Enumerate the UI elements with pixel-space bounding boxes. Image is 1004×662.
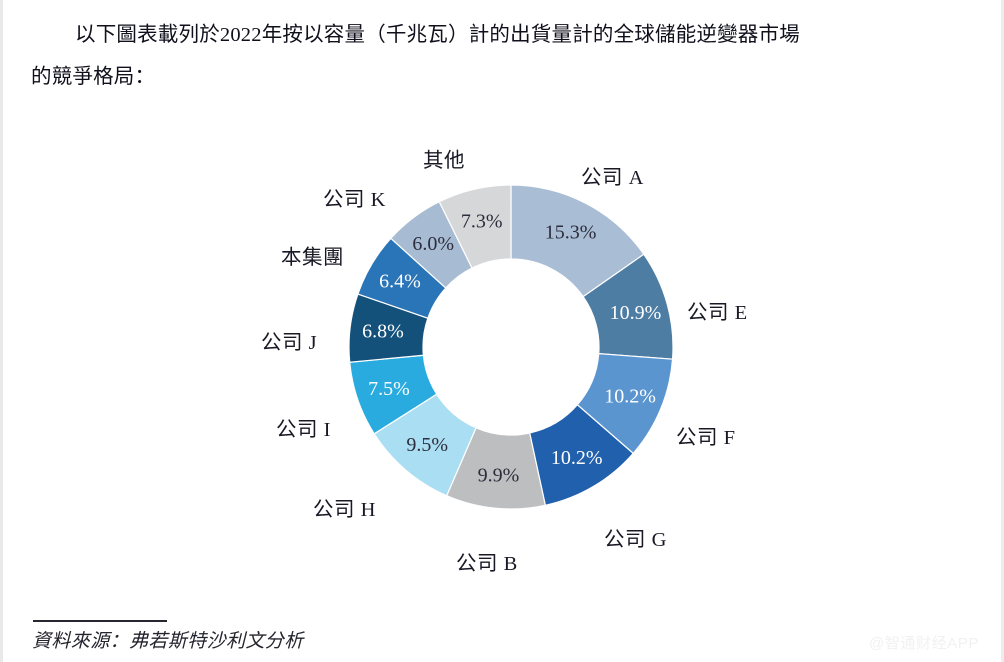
slice-category-label: 公司 H	[313, 492, 376, 522]
source-note: 資料來源：弗若斯特沙利文分析	[32, 626, 304, 653]
slice-category-label: 公司 G	[604, 522, 667, 552]
slice-value-label: 6.4%	[379, 270, 421, 292]
page-frame: 以下圖表載列於2022年按以容量（千兆瓦）計的出貨量計的全球儲能逆變器市場 的競…	[0, 0, 1004, 662]
slice-value-label: 10.2%	[604, 386, 656, 408]
donut-chart: 15.3%10.9%10.2%10.2%9.9%9.5%7.5%6.8%6.4%…	[3, 112, 1004, 582]
slice-category-label: 其他	[423, 143, 465, 173]
slice-value-label: 9.5%	[406, 434, 448, 456]
watermark: @智通财经APP	[869, 632, 979, 653]
slice-value-label: 9.9%	[478, 464, 520, 486]
slice-value-label: 7.3%	[461, 210, 503, 232]
intro-line-1: 以下圖表載列於2022年按以容量（千兆瓦）計的出貨量計的全球儲能逆變器市場	[31, 14, 983, 56]
slice-category-label: 公司 E	[687, 295, 748, 325]
intro-line-2-text: 的競爭格局：	[31, 66, 155, 88]
intro-line-1-text: 以下圖表載列於2022年按以容量（千兆瓦）計的出貨量計的全球儲能逆變器市場	[75, 24, 800, 46]
slice-category-label: 公司 I	[276, 412, 331, 442]
slice-category-label: 公司 J	[261, 325, 317, 355]
slice-category-label: 公司 B	[456, 546, 518, 576]
slice-value-label: 15.3%	[545, 222, 597, 244]
intro-line-2: 的競爭格局：	[31, 56, 983, 98]
slice-value-label: 6.0%	[412, 233, 454, 255]
slice-category-label: 公司 F	[676, 420, 736, 450]
slice-value-label: 6.8%	[362, 321, 404, 343]
intro-paragraph: 以下圖表載列於2022年按以容量（千兆瓦）計的出貨量計的全球儲能逆變器市場 的競…	[31, 14, 983, 98]
footnote-divider	[33, 620, 167, 622]
donut-slice-group	[349, 185, 673, 509]
slice-value-label: 7.5%	[368, 378, 410, 400]
slice-category-label: 公司 A	[581, 160, 644, 190]
slice-value-label: 10.9%	[610, 302, 662, 324]
slice-value-label: 10.2%	[551, 447, 603, 469]
slice-category-label: 本集團	[281, 240, 344, 270]
donut-chart-svg: 15.3%10.9%10.2%10.2%9.9%9.5%7.5%6.8%6.4%…	[3, 112, 1004, 582]
slice-category-label: 公司 K	[323, 182, 386, 212]
